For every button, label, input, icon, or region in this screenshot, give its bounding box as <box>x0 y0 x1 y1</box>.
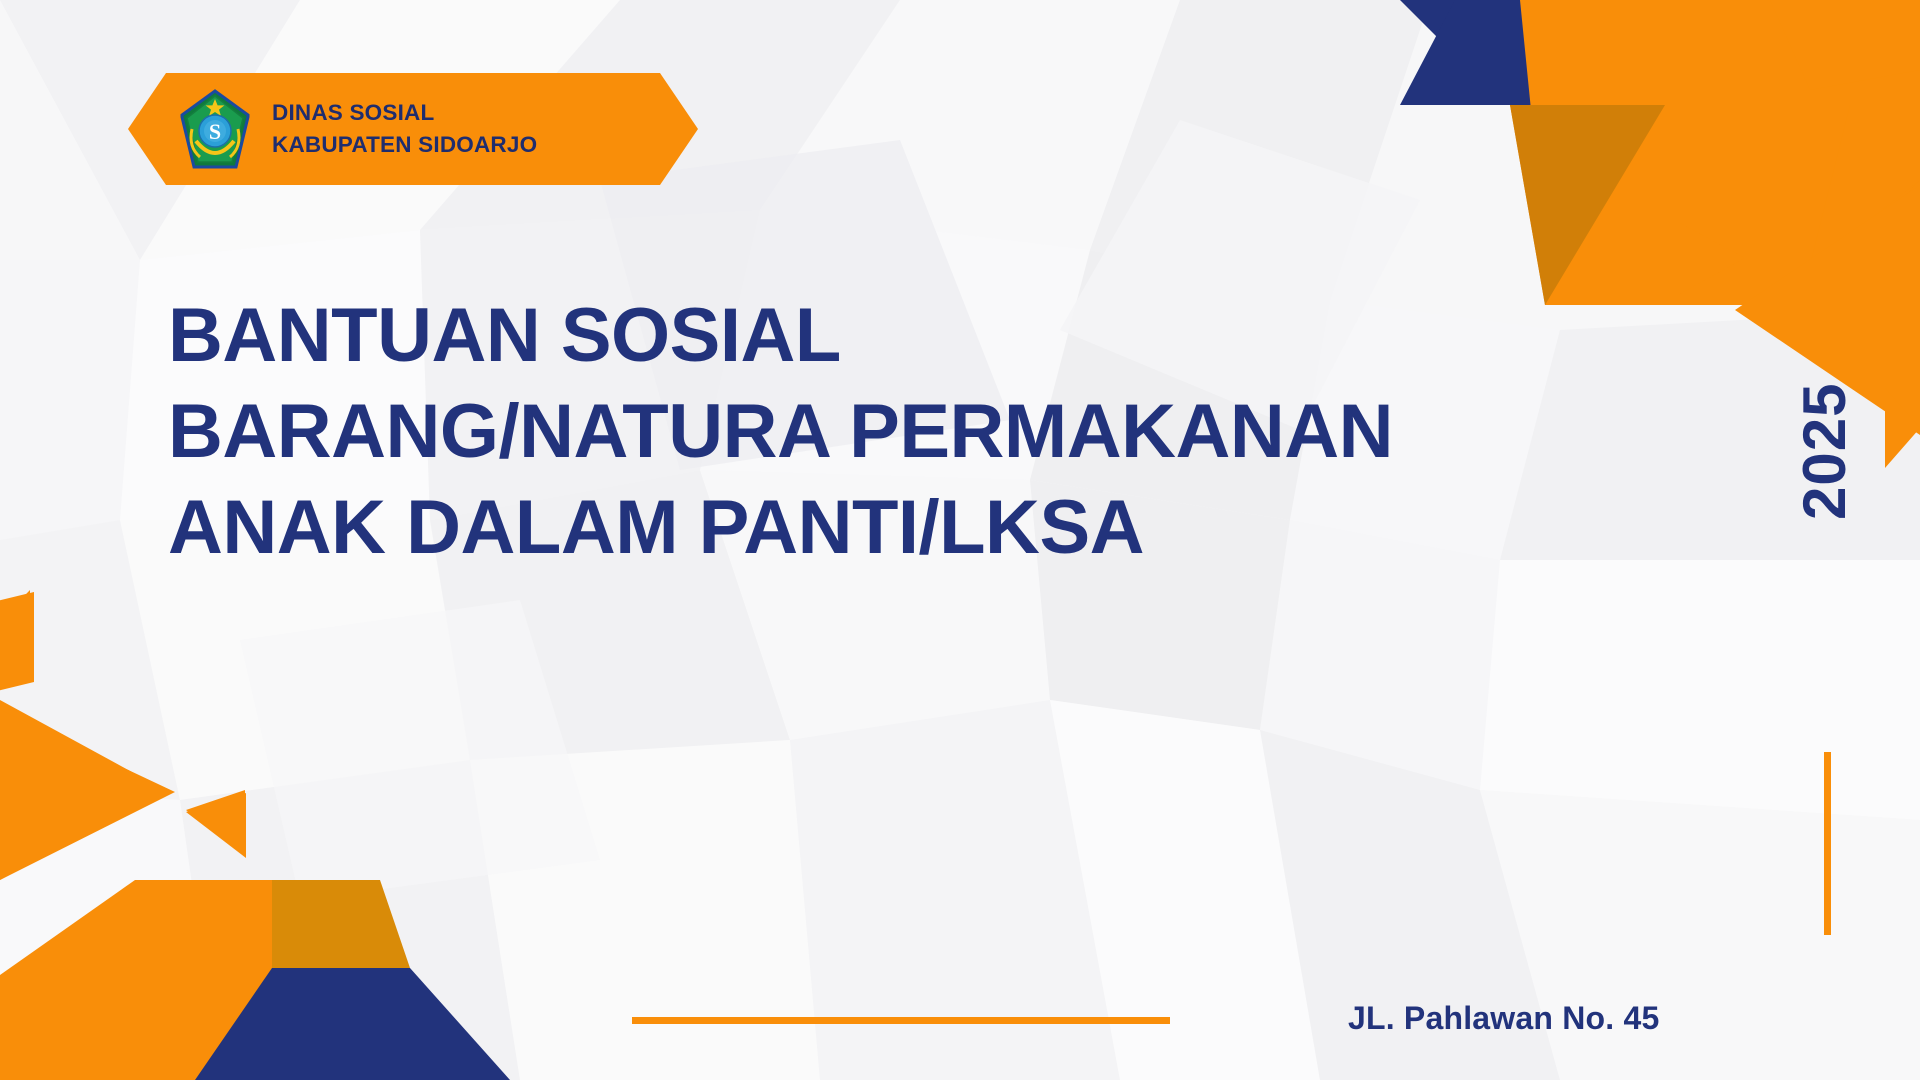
title-line-3: ANAK DALAM PANTI/LKSA <box>168 480 1628 576</box>
orange-vertical-rule <box>1824 752 1831 935</box>
title-line-1: BANTUAN SOSIAL <box>168 288 1628 384</box>
banner-line-2: KABUPATEN SIDOARJO <box>272 129 537 161</box>
title-line-2: BARANG/NATURA PERMAKANAN <box>168 384 1628 480</box>
svg-text:S: S <box>209 119 221 144</box>
dark-orange-triangle-bottom-shape <box>272 880 410 968</box>
address-label: JL. Pahlawan No. 45 <box>1348 1000 1659 1037</box>
orange-horizontal-rule <box>632 1017 1170 1024</box>
page-title: BANTUAN SOSIAL BARANG/NATURA PERMAKANAN … <box>168 288 1628 575</box>
slide-canvas: S DINAS SOSIAL KABUPATEN SIDOARJO BANTUA… <box>0 0 1920 1080</box>
banner-text-block: DINAS SOSIAL KABUPATEN SIDOARJO <box>272 97 537 161</box>
organization-banner: S DINAS SOSIAL KABUPATEN SIDOARJO <box>128 73 698 185</box>
banner-line-1: DINAS SOSIAL <box>272 97 537 129</box>
sidoarjo-regency-emblem-icon: S <box>178 89 252 169</box>
year-label: 2025 <box>1790 383 1859 520</box>
